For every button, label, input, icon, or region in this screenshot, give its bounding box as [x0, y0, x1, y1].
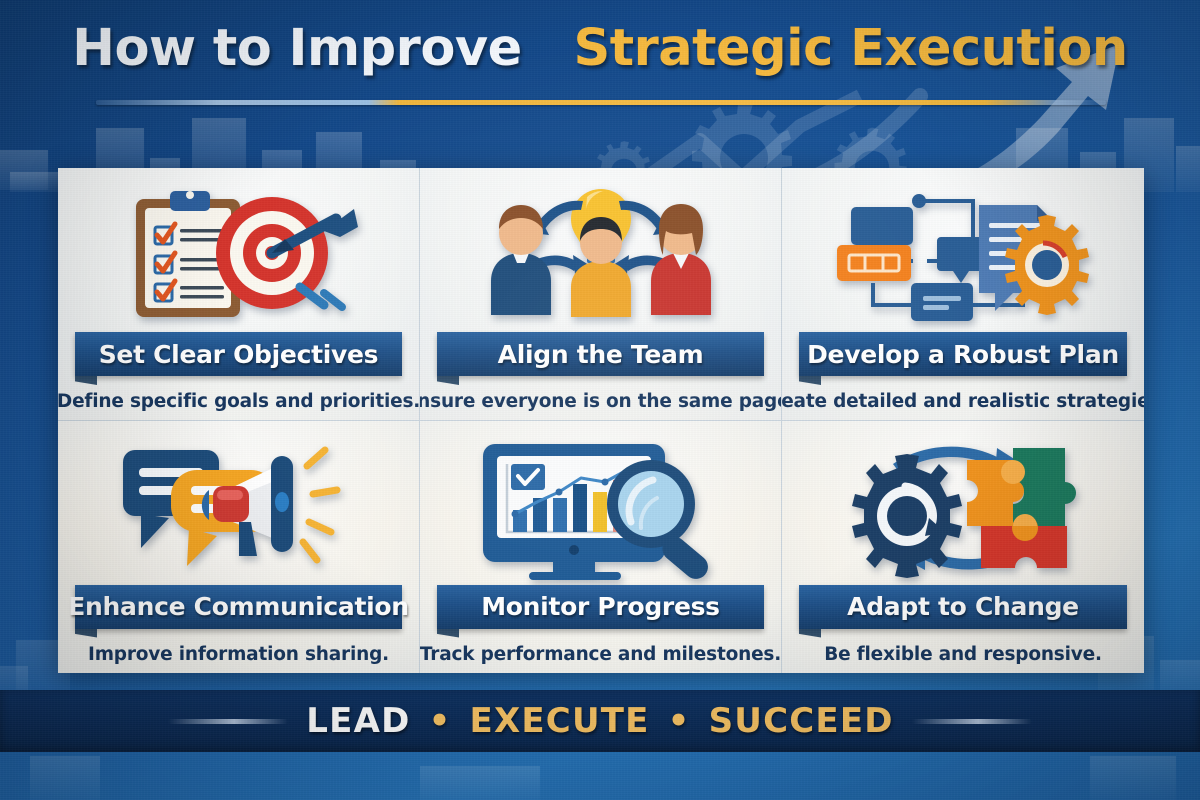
card-1-title-banner: Set Clear Objectives [75, 332, 402, 376]
speech-bubbles-megaphone-icon [105, 436, 373, 580]
puzzle-pieces [967, 448, 1076, 568]
card-4-artwork [72, 435, 405, 581]
footer-word-lead: LEAD [306, 701, 410, 741]
gear-icon [852, 454, 962, 578]
card-5-title-banner: Monitor Progress [437, 585, 764, 629]
card-5-artwork [434, 435, 767, 581]
sound-rays [303, 450, 337, 560]
title-underline [96, 100, 1106, 105]
monitor-bar-chart-magnifier-icon [465, 436, 737, 580]
cards-grid: Set Clear Objectives Define specific goa… [58, 168, 1144, 673]
footer-word-succeed: SUCCEED [709, 701, 894, 741]
footer-dot-1: • [424, 701, 457, 741]
card-5-caption: Track performance and milestones. [420, 644, 781, 665]
clipboard-checklist-and-target-icon [114, 183, 364, 327]
footer-dot-2: • [663, 701, 696, 741]
card-monitor-progress[interactable]: Monitor Progress Track performance and m… [420, 421, 782, 674]
footer-word-execute: EXECUTE [470, 701, 650, 741]
card-1-caption: Define specific goals and priorities. [58, 391, 420, 412]
card-3-title: Develop a Robust Plan [807, 340, 1119, 369]
card-enhance-communication[interactable]: Enhance Communication Improve informatio… [58, 421, 420, 674]
team-alignment-lightbulb-icon [461, 183, 741, 327]
flow-node-bottom [911, 283, 973, 321]
card-align-the-team[interactable]: Align the Team Ensure everyone is on the… [420, 168, 782, 421]
title-part-2: Strategic Execution [574, 19, 1128, 78]
card-2-artwork [434, 182, 767, 328]
page-title: How to Improve Strategic Execution [0, 22, 1200, 76]
header: How to Improve Strategic Execution [0, 0, 1200, 168]
card-3-title-banner: Develop a Robust Plan [799, 332, 1127, 376]
card-develop-a-robust-plan[interactable]: Develop a Robust Plan Create detailed an… [782, 168, 1144, 421]
card-adapt-to-change[interactable]: Adapt to Change Be flexible and responsi… [782, 421, 1144, 674]
card-5-title: Monitor Progress [481, 592, 720, 621]
card-4-title-banner: Enhance Communication [75, 585, 402, 629]
flowchart-document-gear-icon [827, 183, 1099, 327]
card-2-title: Align the Team [498, 340, 704, 369]
card-1-title: Set Clear Objectives [99, 340, 379, 369]
footer-tagline: LEAD • EXECUTE • SUCCEED [306, 701, 893, 741]
card-6-title: Adapt to Change [847, 592, 1079, 621]
flourish-left [168, 719, 288, 724]
flow-node-orange [837, 245, 911, 281]
gear-puzzle-adapt-icon [829, 436, 1097, 580]
card-4-caption: Improve information sharing. [88, 644, 389, 665]
infographic-poster: How to Improve Strategic Execution [0, 0, 1200, 800]
card-1-artwork [72, 182, 405, 328]
card-2-title-banner: Align the Team [437, 332, 764, 376]
checkmark-badge [511, 464, 545, 490]
card-6-title-banner: Adapt to Change [799, 585, 1127, 629]
card-2-caption: Ensure everyone is on the same page. [420, 391, 782, 412]
flourish-right [912, 719, 1032, 724]
card-3-caption: Create detailed and realistic strategies… [782, 391, 1144, 412]
gear-icon [1005, 215, 1089, 315]
footer-band: LEAD • EXECUTE • SUCCEED [0, 690, 1200, 752]
card-4-title: Enhance Communication [68, 592, 409, 621]
card-6-caption: Be flexible and responsive. [824, 644, 1102, 665]
card-set-clear-objectives[interactable]: Set Clear Objectives Define specific goa… [58, 168, 420, 421]
card-6-artwork [796, 435, 1130, 581]
card-3-artwork [796, 182, 1130, 328]
title-part-1: How to Improve [72, 19, 521, 78]
megaphone-icon [201, 450, 336, 560]
